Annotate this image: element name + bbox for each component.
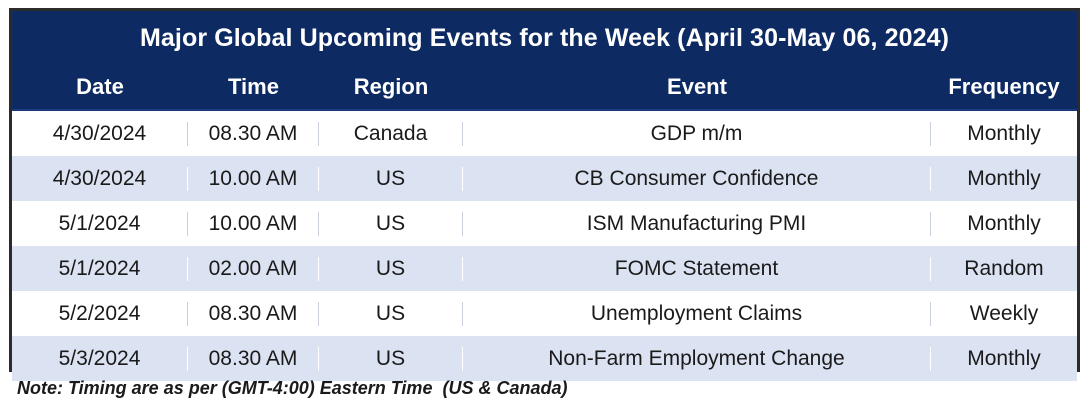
cell-frequency: Weekly: [931, 302, 1077, 326]
events-table-page: Major Global Upcoming Events for the Wee…: [0, 0, 1090, 403]
cell-frequency: Random: [931, 257, 1077, 281]
cell-event: CB Consumer Confidence: [463, 167, 931, 191]
cell-time: 08.30 AM: [188, 302, 319, 326]
cell-time: 10.00 AM: [188, 167, 319, 191]
column-header-region: Region: [319, 74, 463, 100]
cell-time: 08.30 AM: [188, 347, 319, 371]
events-table: Major Global Upcoming Events for the Wee…: [9, 8, 1080, 372]
cell-time: 10.00 AM: [188, 212, 319, 236]
cell-time: 08.30 AM: [188, 122, 319, 146]
cell-frequency: Monthly: [931, 122, 1077, 146]
cell-region: US: [319, 212, 463, 236]
table-row: 4/30/2024 08.30 AM Canada GDP m/m Monthl…: [12, 111, 1077, 156]
table-row: 5/3/2024 08.30 AM US Non-Farm Employment…: [12, 336, 1077, 381]
cell-event: Non-Farm Employment Change: [463, 347, 931, 371]
table-header-row: Date Time Region Event Frequency: [12, 65, 1077, 111]
cell-frequency: Monthly: [931, 347, 1077, 371]
cell-date: 5/2/2024: [12, 302, 188, 326]
table-body: 4/30/2024 08.30 AM Canada GDP m/m Monthl…: [12, 111, 1077, 381]
table-row: 5/1/2024 10.00 AM US ISM Manufacturing P…: [12, 201, 1077, 246]
table-row: 5/1/2024 02.00 AM US FOMC Statement Rand…: [12, 246, 1077, 291]
cell-region: Canada: [319, 122, 463, 146]
cell-date: 5/1/2024: [12, 257, 188, 281]
cell-date: 5/3/2024: [12, 347, 188, 371]
footnote-note: Note: Timing are as per (GMT-4:00) Easte…: [9, 378, 1080, 399]
cell-event: GDP m/m: [463, 122, 931, 146]
column-header-time: Time: [188, 74, 319, 100]
cell-frequency: Monthly: [931, 167, 1077, 191]
page-title: Major Global Upcoming Events for the Wee…: [140, 24, 949, 53]
column-header-frequency: Frequency: [931, 74, 1077, 100]
cell-region: US: [319, 302, 463, 326]
cell-event: Unemployment Claims: [463, 302, 931, 326]
cell-time: 02.00 AM: [188, 257, 319, 281]
cell-region: US: [319, 347, 463, 371]
table-row: 4/30/2024 10.00 AM US CB Consumer Confid…: [12, 156, 1077, 201]
table-row: 5/2/2024 08.30 AM US Unemployment Claims…: [12, 291, 1077, 336]
column-header-date: Date: [12, 74, 188, 100]
cell-frequency: Monthly: [931, 212, 1077, 236]
cell-event: ISM Manufacturing PMI: [463, 212, 931, 236]
cell-date: 4/30/2024: [12, 167, 188, 191]
cell-date: 4/30/2024: [12, 122, 188, 146]
cell-region: US: [319, 167, 463, 191]
cell-date: 5/1/2024: [12, 212, 188, 236]
column-header-event: Event: [463, 74, 931, 100]
cell-event: FOMC Statement: [463, 257, 931, 281]
table-title-band: Major Global Upcoming Events for the Wee…: [12, 11, 1077, 65]
cell-region: US: [319, 257, 463, 281]
